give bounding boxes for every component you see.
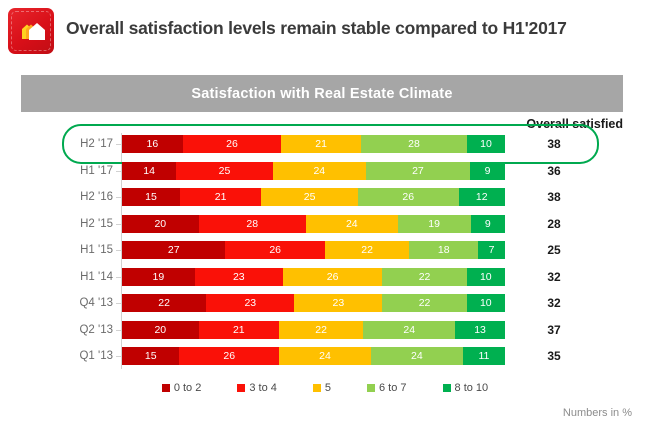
bar-segment: 10 [467,268,505,286]
overall-satisfied-value: 38 [520,137,588,151]
legend-label: 6 to 7 [379,382,407,394]
bar-segment: 24 [273,162,366,180]
bar-segment: 23 [206,294,294,312]
bar-segment: 21 [180,188,261,206]
overall-satisfied-value: 38 [520,190,588,204]
bar-segment: 22 [122,294,206,312]
bar-segment: 7 [478,241,505,259]
bar-segment: 15 [122,347,179,365]
bar-segment: 23 [195,268,283,286]
axis-tick [116,171,121,172]
bar-segment: 24 [279,347,371,365]
legend-item[interactable]: 0 to 2 [162,382,202,394]
bar-segment: 27 [122,241,225,259]
chart-row: H1 '1714252427936 [0,158,650,184]
category-label: Q1 '13 [55,350,113,362]
overall-satisfied-value: 37 [520,323,588,337]
chart-row: Q2 '13202122241337 [0,317,650,343]
bar-segment: 26 [183,135,282,153]
axis-tick [116,356,121,357]
bar-segment: 22 [325,241,409,259]
bar-segment: 24 [371,347,463,365]
chart-row: H1 '14192326221032 [0,264,650,290]
stacked-bar: 272622187 [122,241,505,259]
bar-segment: 15 [122,188,180,206]
chart-row: H2 '17162621281038 [0,131,650,157]
bar-segment: 26 [179,347,279,365]
legend-label: 3 to 4 [249,382,277,394]
stacked-bar: 142524279 [122,162,505,180]
bar-segment: 9 [470,162,505,180]
overall-satisfied-header: Overall satisfied [526,117,623,131]
category-label: H2 '15 [55,218,113,230]
chart-legend: 0 to 23 to 456 to 78 to 10 [0,382,650,394]
category-label: H1 '14 [55,271,113,283]
bar-segment: 28 [361,135,467,153]
slide-page: Overall satisfaction levels remain stabl… [0,0,650,433]
bar-segment: 25 [176,162,273,180]
units-note: Numbers in % [563,407,632,419]
stacked-bar: 2223232210 [122,294,505,312]
stacked-bar: 202824199 [122,215,505,233]
bar-segment: 27 [366,162,470,180]
legend-swatch-icon [237,384,245,392]
bar-segment: 20 [122,215,199,233]
category-label: H2 '16 [55,191,113,203]
legend-swatch-icon [367,384,375,392]
bar-segment: 25 [261,188,358,206]
overall-satisfied-value: 25 [520,243,588,257]
category-label: H1 '15 [55,244,113,256]
stacked-bar: 1923262210 [122,268,505,286]
category-label: H1 '17 [55,165,113,177]
bar-segment: 23 [294,294,382,312]
axis-tick [116,197,121,198]
legend-swatch-icon [443,384,451,392]
bar-segment: 22 [382,294,466,312]
bar-segment: 28 [199,215,306,233]
bar-segment: 10 [467,135,505,153]
legend-item[interactable]: 5 [313,382,331,394]
bar-segment: 18 [409,241,478,259]
house-icon [15,19,48,44]
bar-segment: 13 [455,321,505,339]
bar-segment: 26 [283,268,383,286]
bar-segment: 9 [471,215,505,233]
axis-tick [116,224,121,225]
axis-tick [116,144,121,145]
chart-plot-area: H2 '17162621281038H1 '1714252427936H2 '1… [0,131,650,371]
bar-segment: 21 [199,321,279,339]
legend-label: 8 to 10 [455,382,489,394]
bar-segment: 24 [363,321,455,339]
legend-label: 5 [325,382,331,394]
bar-segment: 22 [382,268,466,286]
brand-logo [8,8,54,54]
chart-row: Q1 '13152624241135 [0,343,650,369]
overall-satisfied-value: 28 [520,217,588,231]
legend-swatch-icon [162,384,170,392]
stacked-bar: 1626212810 [122,135,505,153]
overall-satisfied-value: 35 [520,349,588,363]
bar-segment: 19 [122,268,195,286]
bar-segment: 19 [398,215,471,233]
stacked-bar: 1521252612 [122,188,505,206]
legend-item[interactable]: 8 to 10 [443,382,489,394]
bar-segment: 24 [306,215,398,233]
category-label: Q2 '13 [55,324,113,336]
bar-segment: 26 [358,188,459,206]
legend-item[interactable]: 6 to 7 [367,382,407,394]
bar-segment: 21 [281,135,361,153]
bar-segment: 26 [225,241,325,259]
stacked-bar: 2021222413 [122,321,505,339]
chart-title: Satisfaction with Real Estate Climate [191,86,452,102]
legend-swatch-icon [313,384,321,392]
category-label: Q4 '13 [55,297,113,309]
overall-satisfied-value: 32 [520,296,588,310]
chart-row: H2 '16152125261238 [0,184,650,210]
chart-row: Q4 '13222323221032 [0,290,650,316]
bar-segment: 16 [122,135,183,153]
bar-segment: 11 [463,347,505,365]
bar-segment: 12 [459,188,505,206]
bar-segment: 22 [279,321,363,339]
bar-segment: 20 [122,321,199,339]
axis-tick [116,303,121,304]
chart-row: H2 '1520282419928 [0,211,650,237]
legend-item[interactable]: 3 to 4 [237,382,277,394]
axis-tick [116,330,121,331]
overall-satisfied-value: 36 [520,164,588,178]
overall-satisfied-value: 32 [520,270,588,284]
category-label: H2 '17 [55,138,113,150]
legend-label: 0 to 2 [174,382,202,394]
bar-segment: 14 [122,162,176,180]
chart-title-bar: Satisfaction with Real Estate Climate [21,75,623,112]
axis-tick [116,250,121,251]
stacked-bar: 1526242411 [122,347,505,365]
page-header: Overall satisfaction levels remain stabl… [0,0,650,62]
axis-tick [116,277,121,278]
page-title: Overall satisfaction levels remain stabl… [66,18,567,39]
chart-row: H1 '1527262218725 [0,237,650,263]
bar-segment: 10 [467,294,505,312]
